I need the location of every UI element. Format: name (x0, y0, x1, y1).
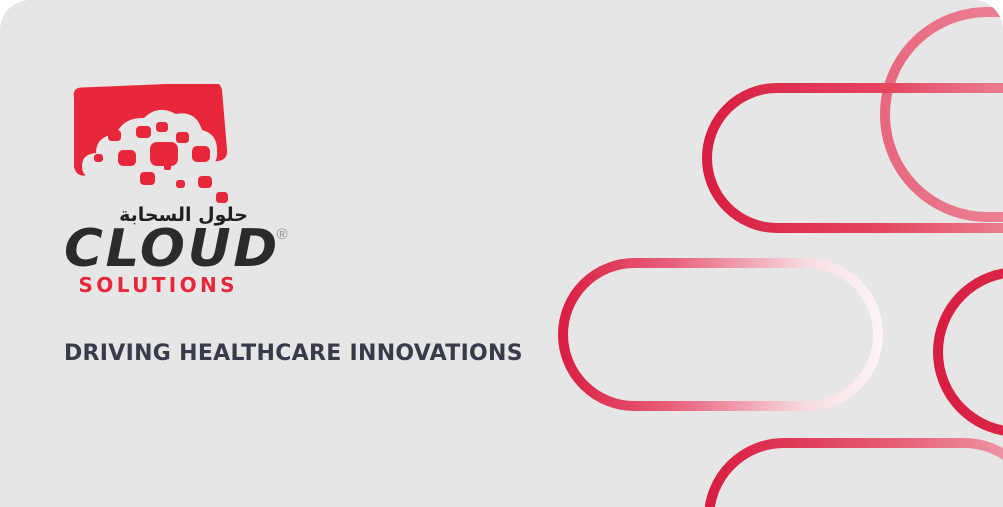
pill-middle-fade (563, 263, 878, 406)
cloud-pixel-logo-icon (64, 84, 250, 210)
pill-right-edge-crimson (938, 272, 1003, 432)
pill-bottom-crimson (709, 443, 1003, 507)
wordmark-group: حلول السحابة CLOUD ® SOLUTIONS (64, 206, 264, 297)
brand-name-row: CLOUD ® (64, 223, 264, 275)
brand-name: CLOUD (64, 223, 280, 275)
brand-block: حلول السحابة CLOUD ® SOLUTIONS (64, 84, 484, 297)
pill-upper-crimson (707, 88, 1003, 228)
pill-top-right-light (885, 12, 1003, 217)
banner-tagline: DRIVING HEALTHCARE INNOVATIONS (64, 341, 523, 366)
banner-card: حلول السحابة CLOUD ® SOLUTIONS DRIVING H… (0, 0, 1003, 507)
